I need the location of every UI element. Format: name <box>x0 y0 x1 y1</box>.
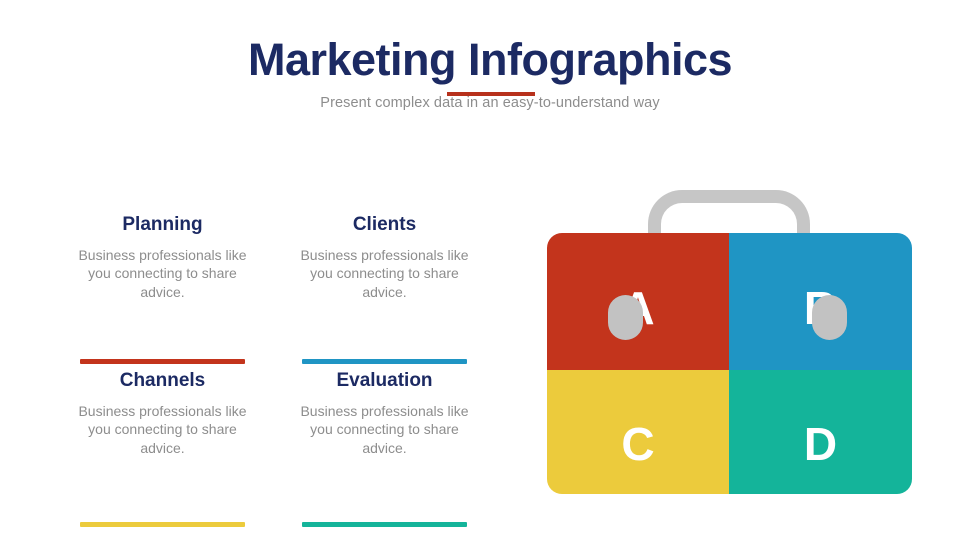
feature-card-evaluation[interactable]: Evaluation Business professionals like y… <box>292 370 477 526</box>
briefcase-quadrant-d[interactable]: D <box>729 370 912 494</box>
quadrant-letter-d: D <box>804 421 837 467</box>
feature-title-channels: Channels <box>70 370 255 393</box>
briefcase-body: A B C D <box>547 233 912 494</box>
feature-card-channels[interactable]: Channels Business professionals like you… <box>70 370 255 526</box>
slide-canvas: Marketing Infographics Present complex d… <box>0 0 980 551</box>
feature-rule-evaluation <box>302 522 467 527</box>
slide-header: Marketing Infographics Present complex d… <box>0 36 980 111</box>
feature-card-clients[interactable]: Clients Business professionals like you … <box>292 214 477 370</box>
feature-body-evaluation: Business professionals like you connecti… <box>292 402 477 457</box>
feature-body-channels: Business professionals like you connecti… <box>70 402 255 457</box>
feature-title-clients: Clients <box>292 214 477 237</box>
title-accent-bar <box>447 92 535 96</box>
feature-rule-clients <box>302 359 467 364</box>
quadrant-letter-c: C <box>621 421 654 467</box>
feature-title-evaluation: Evaluation <box>292 370 477 393</box>
feature-card-planning[interactable]: Planning Business professionals like you… <box>70 214 255 370</box>
briefcase-quadrant-c[interactable]: C <box>547 370 729 494</box>
feature-title-planning: Planning <box>70 214 255 237</box>
page-subtitle: Present complex data in an easy-to-under… <box>0 95 980 111</box>
briefcase-graphic: A B C D <box>520 180 940 510</box>
page-title: Marketing Infographics <box>0 36 980 83</box>
briefcase-clasp-left-icon <box>608 295 643 340</box>
feature-grid: Planning Business professionals like you… <box>70 214 490 526</box>
feature-body-planning: Business professionals like you connecti… <box>70 246 255 301</box>
briefcase-clasp-right-icon <box>812 295 847 340</box>
feature-rule-planning <box>80 359 245 364</box>
feature-rule-channels <box>80 522 245 527</box>
feature-body-clients: Business professionals like you connecti… <box>292 246 477 301</box>
